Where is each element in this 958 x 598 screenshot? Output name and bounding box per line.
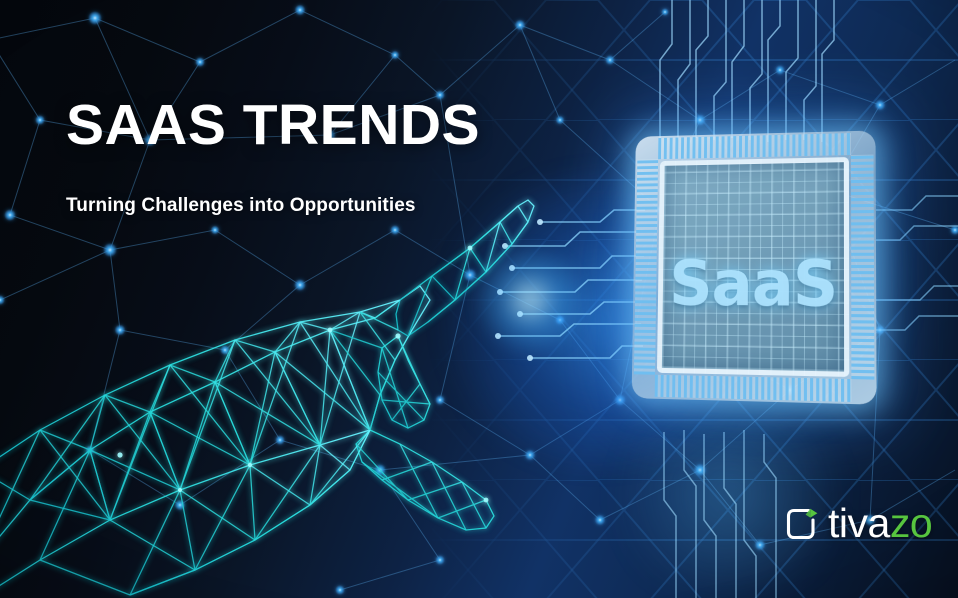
tivazo-logo-mark-icon — [785, 507, 819, 541]
chip-pins-right — [851, 155, 874, 380]
fingertip-glow — [470, 245, 590, 355]
chip-die: SaaS — [657, 157, 849, 377]
logo-text-primary: tiva — [828, 500, 890, 546]
tivazo-logo[interactable]: tivazo — [785, 503, 932, 544]
chip-pins-left — [634, 159, 658, 375]
logo-text-accent: zo — [890, 500, 932, 546]
headline-block: SAAS TRENDS Turning Challenges into Oppo… — [66, 96, 480, 217]
chip-pins-top — [658, 133, 851, 159]
chip-label-saas: SaaS — [669, 246, 838, 320]
saas-trends-banner: SaaS — [0, 0, 958, 598]
saas-processor-chip: SaaS — [612, 96, 892, 436]
chip-body: SaaS — [632, 130, 877, 404]
tivazo-logo-text: tivazo — [828, 503, 932, 544]
page-title: SAAS TRENDS — [66, 96, 480, 155]
chip-pins-bottom — [655, 375, 852, 402]
page-subtitle: Turning Challenges into Opportunities — [66, 155, 480, 217]
